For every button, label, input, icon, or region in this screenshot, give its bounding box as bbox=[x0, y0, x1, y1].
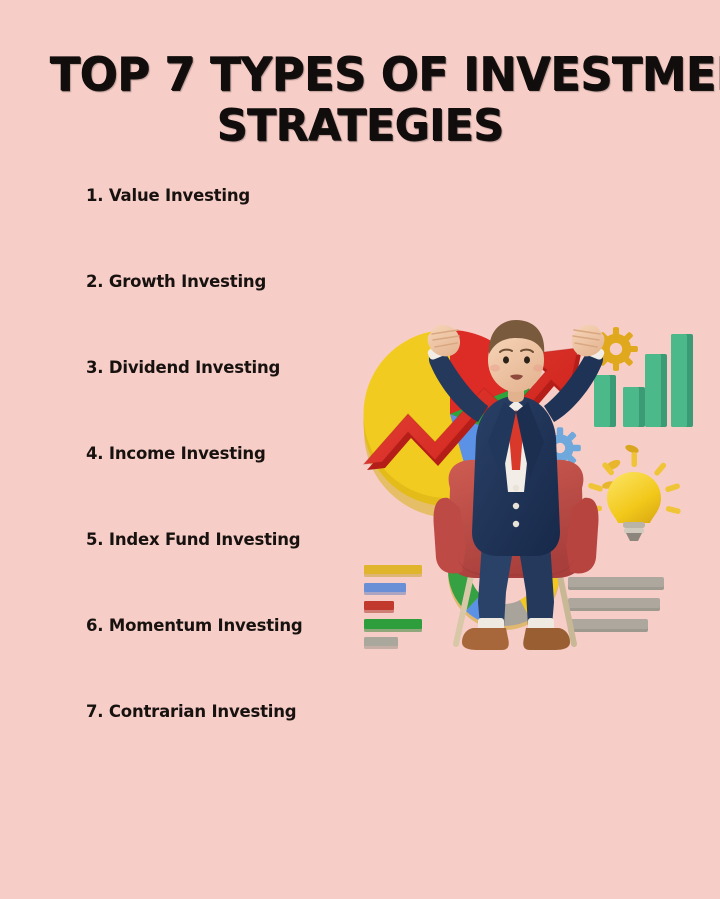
list-item-label: 2. Growth Investing bbox=[86, 272, 266, 292]
list-item-label: 5. Index Fund Investing bbox=[86, 530, 300, 550]
list-item-label: 7. Contrarian Investing bbox=[86, 702, 296, 722]
gray-text-lines bbox=[568, 577, 664, 632]
character-torso bbox=[472, 396, 560, 556]
title-line-1: TOP 7 TYPES OF INVESTMENT bbox=[50, 48, 671, 100]
lightbulb-icon bbox=[587, 452, 681, 541]
list-item: 3. Dividend Investing bbox=[86, 358, 416, 444]
list-item-label: 3. Dividend Investing bbox=[86, 358, 280, 378]
list-item: 4. Income Investing bbox=[86, 444, 416, 530]
list-item-label: 4. Income Investing bbox=[86, 444, 266, 464]
list-item: 5. Index Fund Investing bbox=[86, 530, 416, 616]
title-line-2: STRATEGIES bbox=[50, 100, 671, 152]
list-item: 1. Value Investing bbox=[86, 186, 416, 272]
list-item: 2. Growth Investing bbox=[86, 272, 416, 358]
list-item: 6. Momentum Investing bbox=[86, 616, 416, 702]
list-item: 7. Contrarian Investing bbox=[86, 702, 416, 788]
list-item-label: 1. Value Investing bbox=[86, 186, 250, 206]
strategy-list: 1. Value Investing 2. Growth Investing 3… bbox=[86, 186, 416, 788]
list-item-label: 6. Momentum Investing bbox=[86, 616, 303, 636]
page-title: TOP 7 TYPES OF INVESTMENT STRATEGIES bbox=[0, 48, 720, 152]
